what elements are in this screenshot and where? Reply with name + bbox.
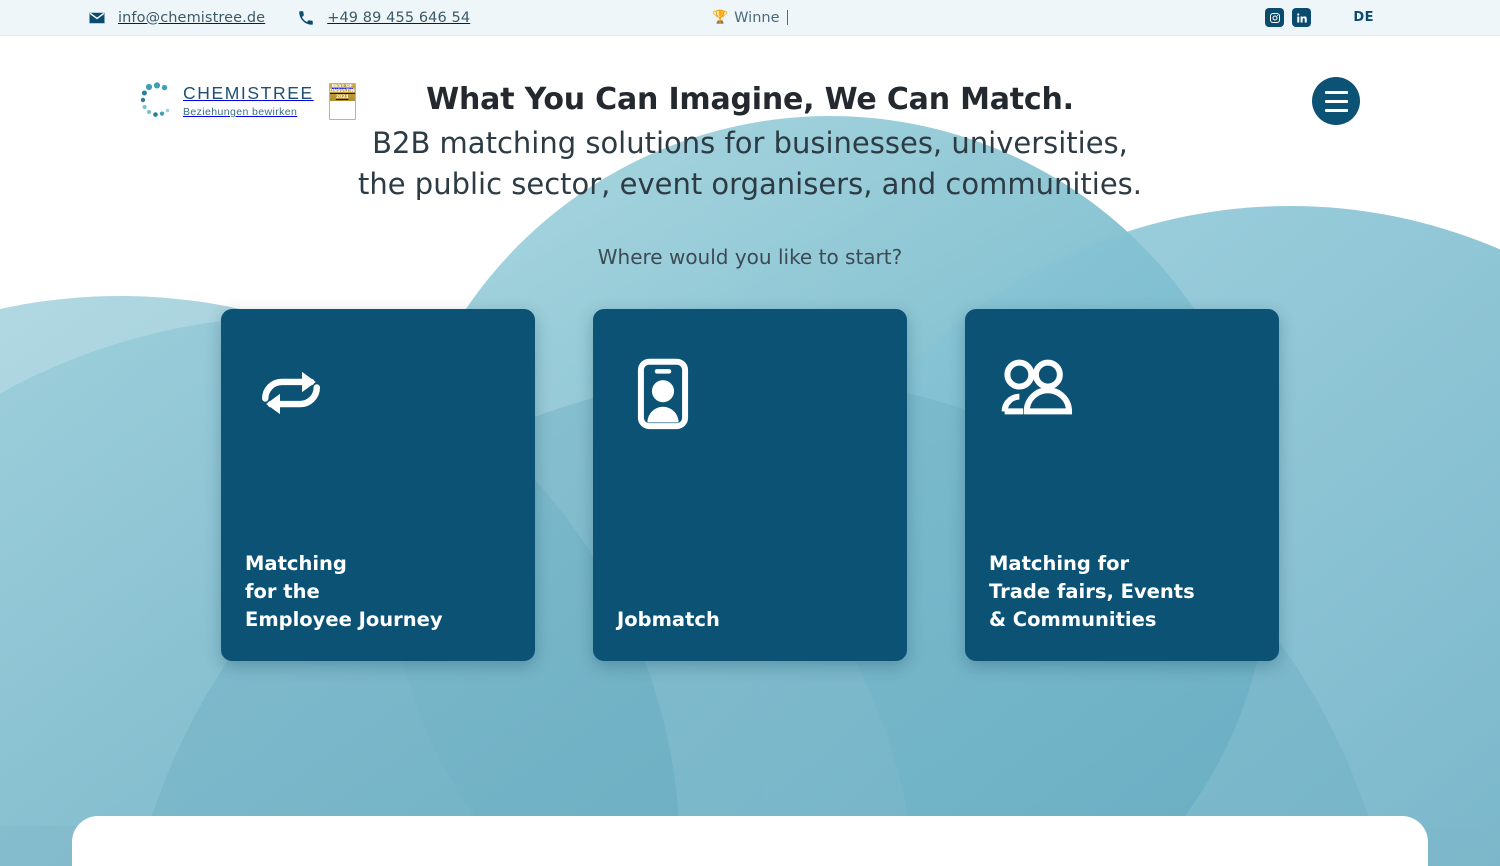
hero-subline-2: the public sector, event organisers, and… [0, 164, 1500, 205]
id-badge-icon [617, 347, 709, 439]
language-toggle[interactable]: DE [1353, 10, 1374, 25]
next-section-panel [72, 816, 1428, 866]
card-trade-fairs-events[interactable]: Matching for Trade fairs, Events & Commu… [965, 309, 1279, 661]
card-title: Jobmatch [617, 606, 883, 634]
hamburger-icon-line [1325, 91, 1348, 94]
site-logo[interactable]: CHEMISTREE Beziehungen bewirken BEST OF … [140, 81, 356, 121]
phone-icon [297, 9, 315, 27]
phone-link[interactable]: +49 89 455 646 54 [297, 9, 470, 27]
menu-toggle-button[interactable] [1312, 77, 1360, 125]
card-title: Matching for the Employee Journey [245, 550, 511, 633]
entry-point-cards: Matching for the Employee Journey Jobmat… [0, 309, 1500, 661]
hamburger-icon-line [1325, 100, 1348, 103]
card-title: Matching for Trade fairs, Events & Commu… [989, 550, 1255, 633]
logo-wordmark: CHEMISTREE [183, 85, 314, 103]
hero-section: CHEMISTREE Beziehungen bewirken BEST OF … [0, 36, 1500, 866]
topbar-right-group: DE [1265, 8, 1374, 27]
chemistree-logo-icon [140, 81, 174, 121]
email-text: info@chemistree.de [118, 10, 265, 26]
hero-question: Where would you like to start? [0, 245, 1500, 269]
phone-text: +49 89 455 646 54 [327, 10, 470, 26]
linkedin-icon[interactable] [1292, 8, 1311, 27]
topbar-contact-group: info@chemistree.de +49 89 455 646 54 [88, 9, 470, 27]
trophy-icon: 🏆 [712, 10, 728, 25]
site-header: CHEMISTREE Beziehungen bewirken BEST OF … [0, 36, 1500, 166]
typing-caret [787, 10, 789, 25]
repeat-loop-icon [245, 347, 337, 439]
card-employee-journey[interactable]: Matching for the Employee Journey [221, 309, 535, 661]
logo-tagline: Beziehungen bewirken [183, 107, 314, 118]
users-group-icon [989, 347, 1081, 439]
top-utility-bar: info@chemistree.de +49 89 455 646 54 🏆 W… [0, 0, 1500, 36]
email-link[interactable]: info@chemistree.de [88, 9, 265, 27]
hamburger-icon-line [1325, 109, 1348, 112]
instagram-icon[interactable] [1265, 8, 1284, 27]
award-text: Winne [734, 10, 779, 26]
award-badge-body [330, 101, 355, 120]
card-jobmatch[interactable]: Jobmatch [593, 309, 907, 661]
envelope-icon [88, 9, 106, 27]
best-of-award-badge: BEST OF CONSULTING 2024 [329, 83, 356, 120]
